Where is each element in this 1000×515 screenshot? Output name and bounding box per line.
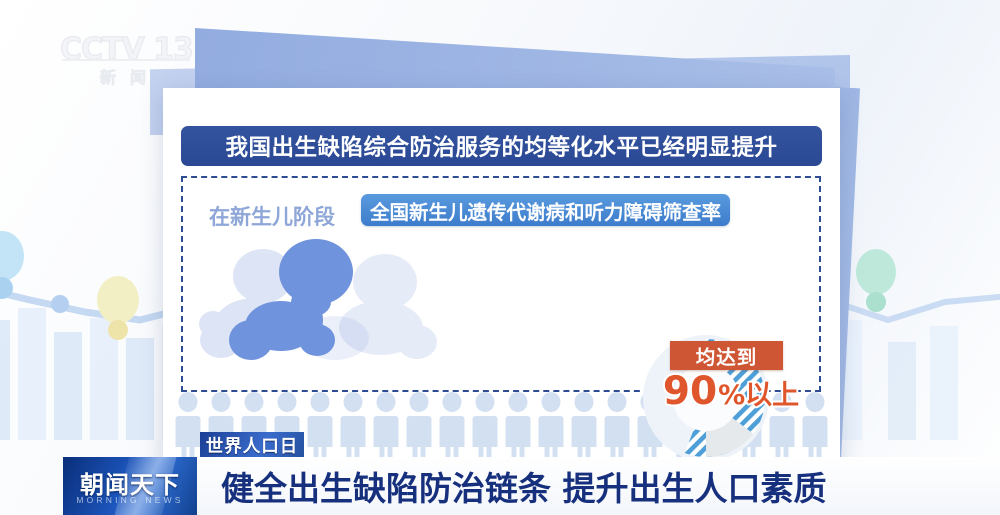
cctv-logo-rule [62, 59, 190, 61]
headline-band: 健全出生缺陷防治链条 提升出生人口素质 [197, 457, 1000, 515]
stage-label: 在新生儿阶段 [209, 201, 335, 231]
cctv-logo-sub: 新闻 [60, 64, 200, 88]
metric-label: 全国新生儿遗传代谢病和听力障碍筛查率 [370, 196, 721, 225]
program-logo: 朝闻天下 MORNING NEWS [63, 457, 197, 515]
metric-value-number: 90 [663, 372, 717, 411]
lower-third: 健全出生缺陷防治链条 提升出生人口素质 朝闻天下 MORNING NEWS [0, 457, 1000, 515]
infographic-card: 我国出生缺陷综合防治服务的均等化水平已经明显提升 [163, 88, 840, 470]
headline-text: 健全出生缺陷防治链条 提升出生人口素质 [221, 462, 827, 510]
metric-label-pill: 全国新生儿遗传代谢病和听力障碍筛查率 [361, 194, 730, 226]
metric-value-suffix: %以上 [718, 382, 799, 409]
cctv-logo: CCTV 13 新闻 [60, 32, 200, 94]
broadcast-frame: CCTV 13 新闻 [0, 0, 1000, 515]
metric-value: 90 %以上 [661, 372, 801, 414]
baby-silhouettes [185, 228, 455, 378]
topic-badge-label: 世界人口日 [206, 433, 299, 458]
topic-badge: 世界人口日 [200, 432, 304, 459]
program-name-en: MORNING NEWS [63, 495, 197, 505]
achievement-badge-label: 均达到 [696, 341, 758, 370]
achievement-badge: 均达到 [670, 341, 783, 370]
card-title: 我国出生缺陷综合防治服务的均等化水平已经明显提升 [225, 130, 777, 162]
card-title-bar: 我国出生缺陷综合防治服务的均等化水平已经明显提升 [181, 126, 822, 166]
cctv-logo-text: CCTV 13 [60, 32, 193, 67]
